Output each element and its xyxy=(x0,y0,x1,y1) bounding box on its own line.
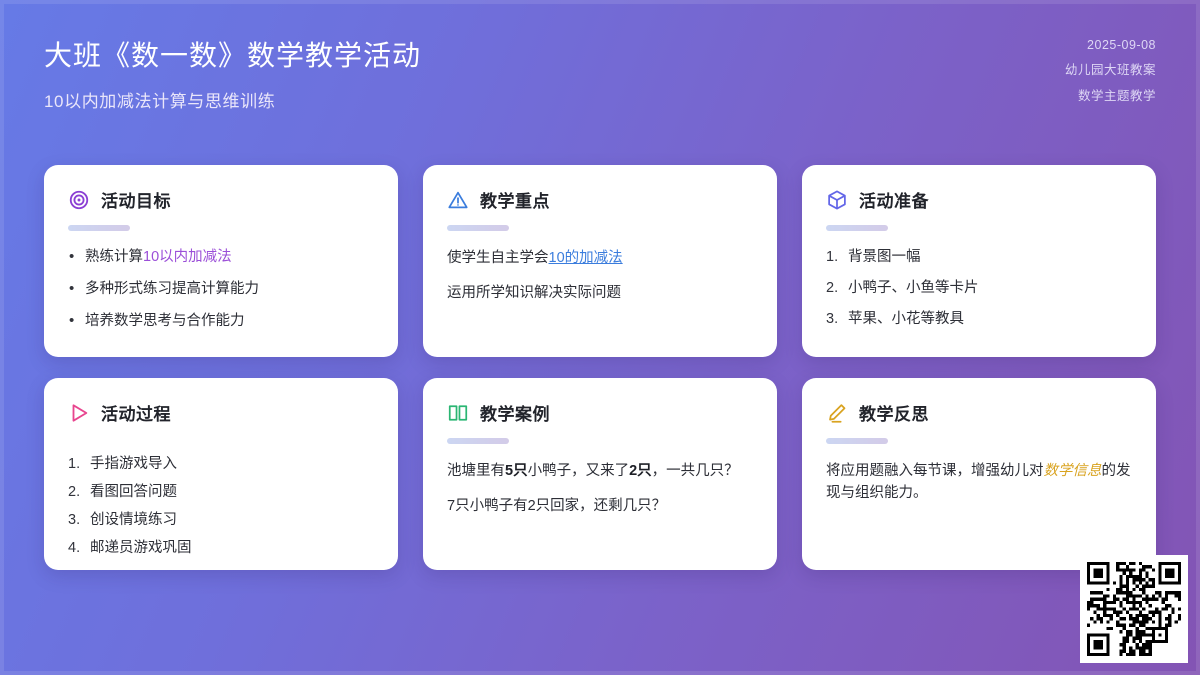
objective-list: 熟练计算10以内加减法 多种形式练习提高计算能力 培养数学思考与合作能力 xyxy=(68,247,374,332)
card-examples[interactable]: 教学案例 池塘里有5只小鸭子，又来了2只，一共几只？ 7只小鸭子有2只回家，还剩… xyxy=(423,378,777,570)
card-title: 活动准备 xyxy=(859,187,929,212)
list-item: 苹果、小花等教具 xyxy=(826,309,1132,330)
item-highlight: 2只 xyxy=(629,463,652,479)
card-header: 教学重点 xyxy=(447,187,753,212)
card-divider xyxy=(447,438,509,444)
card-body: 将应用题融入每节课，增强幼儿对数学信息的发现与组织能力。 xyxy=(826,460,1132,505)
play-triangle-icon xyxy=(68,402,90,424)
target-icon xyxy=(68,189,90,211)
card-body: 使学生自主学会10的加减法 运用所学知识解决实际问题 xyxy=(447,247,753,305)
list-item: 背景图一幅 xyxy=(826,247,1132,268)
key-point-paragraph: 使学生自主学会10的加减法 xyxy=(447,247,753,269)
qr-code-image xyxy=(1087,562,1181,656)
item-text: ，一共几只？ xyxy=(652,463,739,479)
list-item: 看图回答问题 xyxy=(68,482,374,503)
key-point-paragraph: 运用所学知识解决实际问题 xyxy=(447,282,753,304)
qr-code[interactable] xyxy=(1080,555,1188,663)
page-subtitle: 10以内加减法计算与思维训练 xyxy=(44,87,421,112)
list-item: 手指游戏导入 xyxy=(68,454,374,475)
item-text: 将应用题融入每节课，增强幼儿对 xyxy=(826,463,1044,479)
card-reflection[interactable]: 教学反思 将应用题融入每节课，增强幼儿对数学信息的发现与组织能力。 xyxy=(802,378,1156,570)
card-process[interactable]: 活动过程 手指游戏导入 看图回答问题 创设情境练习 邮递员游戏巩固 xyxy=(44,378,398,570)
card-objectives[interactable]: 活动目标 熟练计算10以内加减法 多种形式练习提高计算能力 培养数学思考与合作能… xyxy=(44,165,398,357)
example-paragraph: 7只小鸭子有2只回家，还剩几只？ xyxy=(447,495,753,517)
item-text: 小鸭子，又来了 xyxy=(528,463,630,479)
warning-triangle-icon xyxy=(447,189,469,211)
item-highlight: 10以内加减法 xyxy=(143,249,232,265)
card-body: 背景图一幅 小鸭子、小鱼等卡片 苹果、小花等教具 xyxy=(826,247,1132,330)
slide-header: 大班《数一数》数学教学活动 10以内加减法计算与思维训练 2025-09-08 … xyxy=(0,0,1200,150)
card-title: 教学重点 xyxy=(480,187,550,212)
card-title: 教学反思 xyxy=(859,400,929,425)
card-body: 池塘里有5只小鸭子，又来了2只，一共几只？ 7只小鸭子有2只回家，还剩几只？ xyxy=(447,460,753,518)
card-header: 教学反思 xyxy=(826,400,1132,425)
meta-date: 2025-09-08 xyxy=(1065,38,1156,52)
page-title: 大班《数一数》数学教学活动 xyxy=(44,38,421,73)
cube-icon xyxy=(826,189,848,211)
key-point-link[interactable]: 10的加减法 xyxy=(549,250,623,266)
meta-subject: 数学主题教学 xyxy=(1065,85,1156,104)
card-title: 活动过程 xyxy=(101,400,171,425)
card-key-points[interactable]: 教学重点 使学生自主学会10的加减法 运用所学知识解决实际问题 xyxy=(423,165,777,357)
process-list: 手指游戏导入 看图回答问题 创设情境练习 邮递员游戏巩固 xyxy=(68,454,374,559)
card-divider xyxy=(68,225,130,231)
card-divider xyxy=(826,438,888,444)
card-divider xyxy=(826,225,888,231)
card-title: 活动目标 xyxy=(101,187,171,212)
meta-category: 幼儿园大班教案 xyxy=(1065,59,1156,78)
list-item: 熟练计算10以内加减法 xyxy=(68,247,374,268)
card-body: 熟练计算10以内加减法 多种形式练习提高计算能力 培养数学思考与合作能力 xyxy=(68,247,374,332)
card-body: 手指游戏导入 看图回答问题 创设情境练习 邮递员游戏巩固 xyxy=(68,454,374,566)
header-title-group: 大班《数一数》数学教学活动 10以内加减法计算与思维训练 xyxy=(44,38,421,112)
example-paragraph: 池塘里有5只小鸭子，又来了2只，一共几只？ xyxy=(447,460,753,482)
card-header: 教学案例 xyxy=(447,400,753,425)
card-title: 教学案例 xyxy=(480,400,550,425)
preparation-list: 背景图一幅 小鸭子、小鱼等卡片 苹果、小花等教具 xyxy=(826,247,1132,330)
card-divider xyxy=(447,225,509,231)
card-grid: 活动目标 熟练计算10以内加减法 多种形式练习提高计算能力 培养数学思考与合作能… xyxy=(44,165,1156,570)
card-header: 活动过程 xyxy=(68,400,374,425)
item-text: 池塘里有 xyxy=(447,463,505,479)
card-header: 活动目标 xyxy=(68,187,374,212)
item-highlight: 数学信息 xyxy=(1044,463,1102,479)
card-header: 活动准备 xyxy=(826,187,1132,212)
list-item: 邮递员游戏巩固 xyxy=(68,538,374,559)
open-book-icon xyxy=(447,402,469,424)
list-item: 多种形式练习提高计算能力 xyxy=(68,279,374,300)
list-item: 小鸭子、小鱼等卡片 xyxy=(826,278,1132,299)
pencil-icon xyxy=(826,402,848,424)
list-item: 创设情境练习 xyxy=(68,510,374,531)
item-text: 熟练计算 xyxy=(85,249,143,265)
reflection-paragraph: 将应用题融入每节课，增强幼儿对数学信息的发现与组织能力。 xyxy=(826,460,1132,505)
item-text: 使学生自主学会 xyxy=(447,250,549,266)
item-highlight: 5只 xyxy=(505,463,528,479)
card-preparation[interactable]: 活动准备 背景图一幅 小鸭子、小鱼等卡片 苹果、小花等教具 xyxy=(802,165,1156,357)
header-meta: 2025-09-08 幼儿园大班教案 数学主题教学 xyxy=(1065,38,1156,104)
list-item: 培养数学思考与合作能力 xyxy=(68,311,374,332)
